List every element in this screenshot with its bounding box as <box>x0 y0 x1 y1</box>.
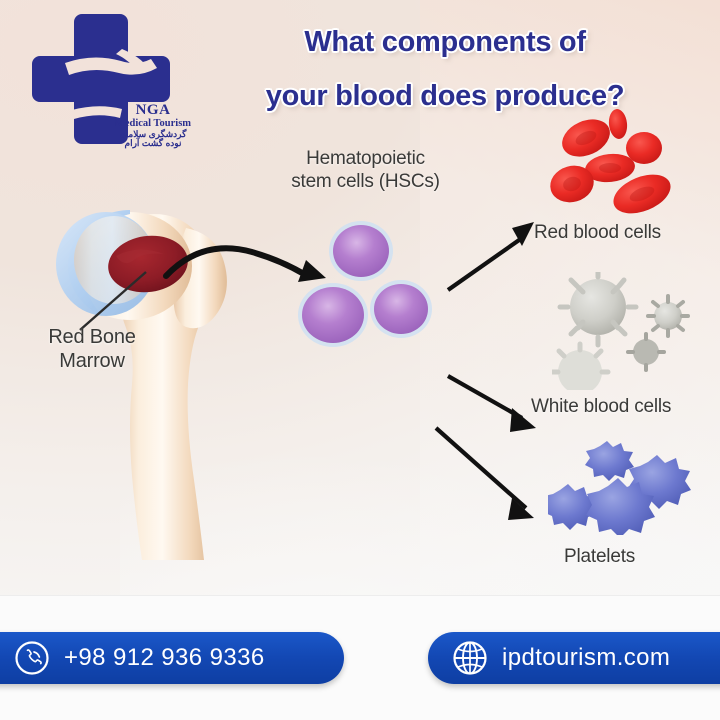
phone-contact-button[interactable]: +98 912 936 9336 <box>0 632 344 684</box>
label-white-blood-cells: White blood cells <box>531 396 671 419</box>
arrow-to-platelets <box>436 428 526 508</box>
white-blood-cell <box>628 334 664 370</box>
red-blood-cell <box>626 132 662 164</box>
white-blood-cell <box>648 296 688 336</box>
label-marrow-line-1: Red Bone <box>22 325 162 349</box>
page-title-line-1: What components of <box>190 16 700 70</box>
logo-caption: NGA Medical Tourism گردشگری سلامت نوده گ… <box>105 102 201 149</box>
label-hsc-line-2: stem cells (HSCs) <box>258 171 473 194</box>
label-red-blood-cells: Red blood cells <box>534 222 661 245</box>
arrow-to-red-blood-cells <box>448 238 522 290</box>
website-url: ipdtourism.com <box>502 644 670 672</box>
phone-icon <box>14 640 50 676</box>
label-hematopoietic-stem-cells: Hematopoietic stem cells (HSCs) <box>258 148 473 194</box>
white-blood-cell <box>560 272 636 345</box>
arrow-to-white-blood-cells <box>448 376 522 418</box>
platelet <box>585 441 634 481</box>
website-button[interactable]: ipdtourism.com <box>428 632 720 684</box>
label-hsc-line-1: Hematopoietic <box>258 148 473 171</box>
stem-cell <box>370 280 432 338</box>
platelet <box>548 484 597 530</box>
label-marrow-line-2: Marrow <box>22 349 162 373</box>
platelet-group <box>548 440 703 535</box>
label-red-bone-marrow: Red Bone Marrow <box>22 325 162 373</box>
footer-bar: +98 912 936 9336 ipdtourism.com <box>0 595 720 720</box>
stem-cell <box>329 221 393 281</box>
label-platelets: Platelets <box>564 546 635 569</box>
white-blood-cell-group <box>552 272 720 390</box>
logo-tagline: Medical Tourism <box>105 118 201 129</box>
white-blood-cell <box>552 344 608 390</box>
brand-logo: NGA Medical Tourism گردشگری سلامت نوده گ… <box>10 6 190 166</box>
red-blood-cell-group <box>538 108 714 220</box>
red-blood-cell <box>607 108 628 140</box>
phone-number: +98 912 936 9336 <box>64 644 265 672</box>
logo-brand: NGA <box>105 102 201 118</box>
poster: NGA Medical Tourism گردشگری سلامت نوده گ… <box>0 0 720 720</box>
globe-icon <box>452 640 488 676</box>
stem-cell <box>298 283 368 347</box>
logo-tagline-fa-2: نوده گشت آرام <box>105 139 201 149</box>
